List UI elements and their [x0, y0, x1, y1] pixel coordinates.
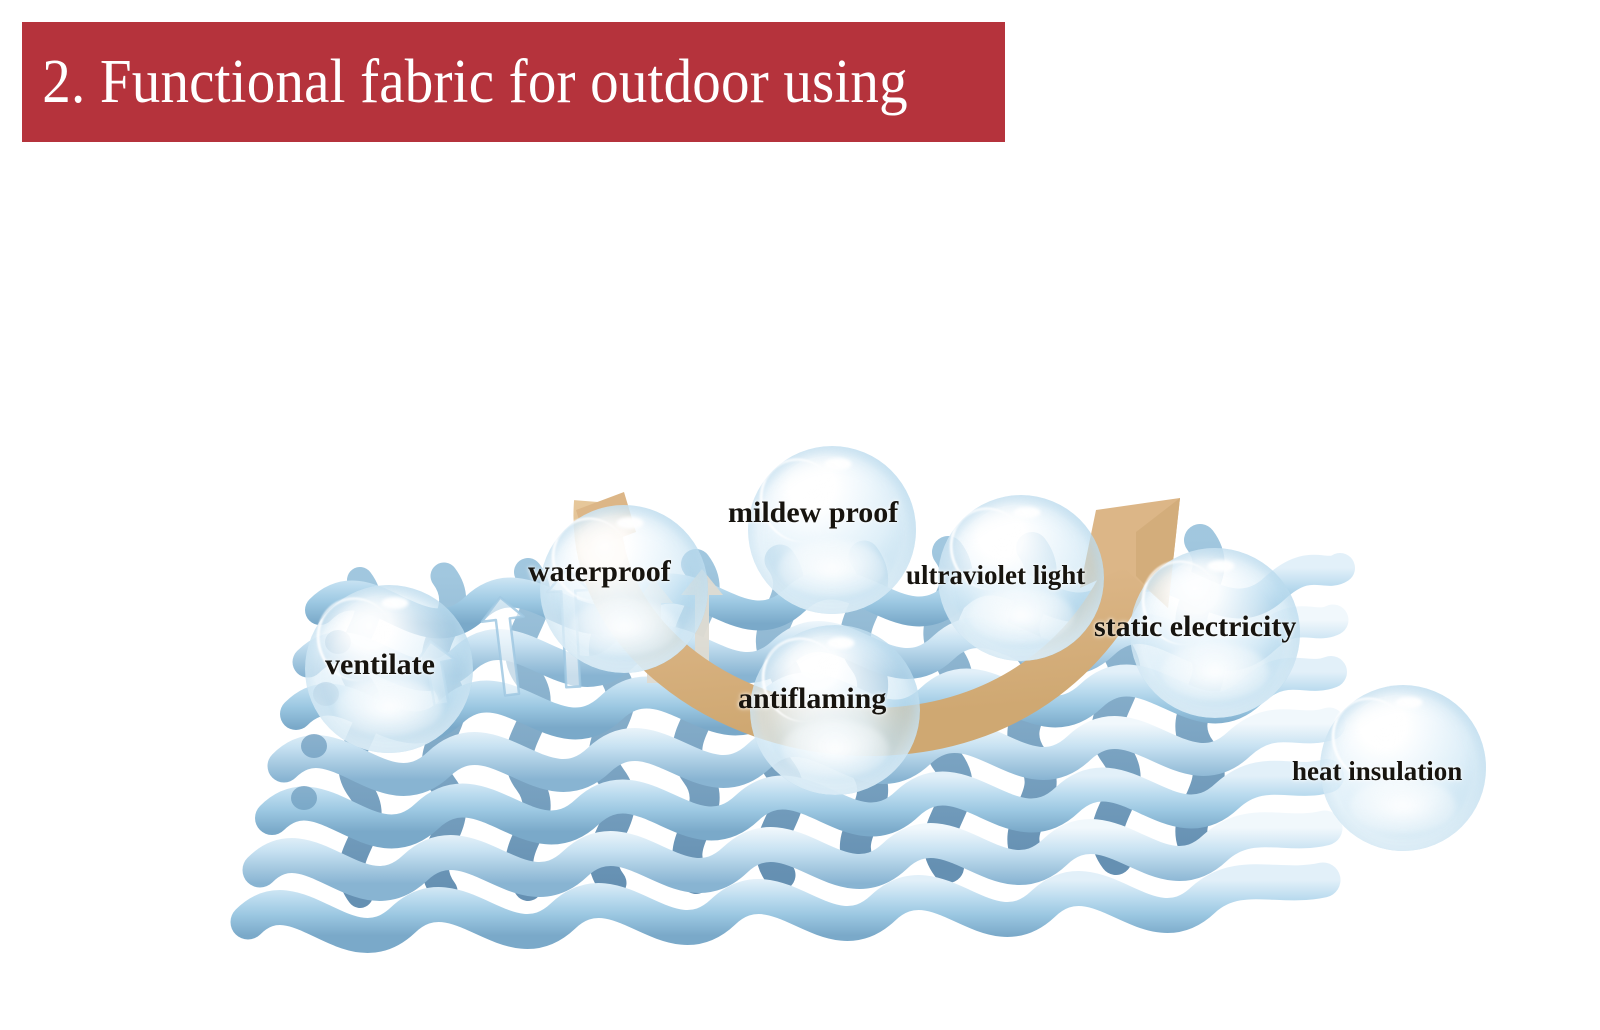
bubble-lower-glow — [335, 679, 443, 736]
bubble-lower-glow — [570, 599, 678, 656]
bubble-label-waterproof: waterproof — [528, 557, 671, 587]
bubble-label-ventilate: ventilate — [325, 650, 435, 680]
bubble-label-antiflaming: antiflaming — [738, 684, 886, 714]
bubble-lower-glow — [1350, 778, 1456, 834]
bubble-label-mildew-proof: mildew proof — [728, 498, 898, 528]
bubble-label-ultraviolet-light: ultraviolet light — [906, 562, 1085, 589]
bubble-lower-glow — [1161, 643, 1270, 701]
bubble-lower-glow — [778, 540, 886, 597]
bubble-lower-glow — [781, 720, 890, 778]
title-banner: 2. Functional fabric for outdoor using — [22, 22, 1005, 142]
bubble-mildew-proof — [748, 446, 916, 614]
bubble-waterproof — [540, 505, 708, 673]
diagram-stage: ventilatewaterproofmildew proofultraviol… — [0, 150, 1600, 1030]
slide-root: 2. Functional fabric for outdoor using — [0, 0, 1600, 1030]
bubble-label-heat-insulation: heat insulation — [1292, 758, 1462, 785]
bubble-label-static-electricity: static electricity — [1094, 612, 1296, 642]
page-title: 2. Functional fabric for outdoor using — [22, 51, 908, 113]
bubble-lower-glow — [968, 588, 1074, 644]
